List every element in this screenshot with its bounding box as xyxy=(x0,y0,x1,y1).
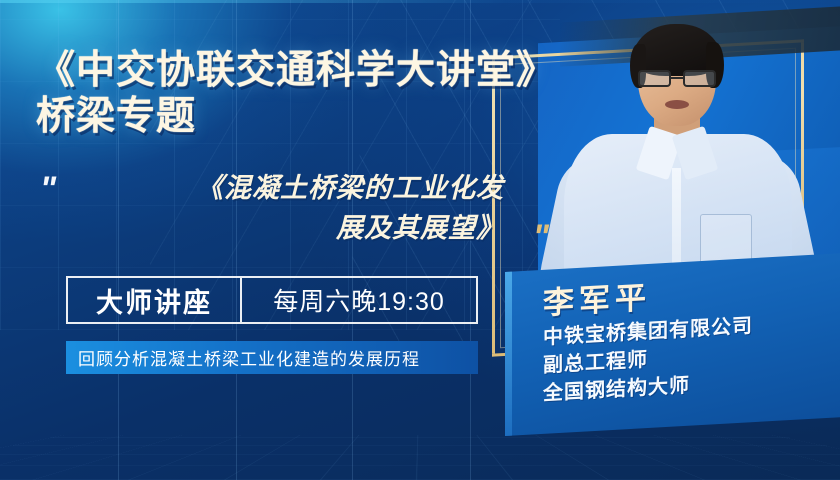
description-band: 回顾分析混凝土桥梁工业化建造的发展历程 xyxy=(66,341,478,374)
lecture-poster: 《中交协联交通科学大讲堂》 桥梁专题 " 《混凝土桥梁的工业化发 展及其展望》 … xyxy=(0,0,840,480)
title-line-1: 《中交协联交通科学大讲堂》 xyxy=(36,49,556,92)
portrait-mouth xyxy=(665,100,689,109)
title-line-2: 桥梁专题 xyxy=(36,94,576,140)
topic-quote: " 《混凝土桥梁的工业化发 展及其展望》 " xyxy=(36,168,546,268)
quote-close-mark: " xyxy=(533,220,546,254)
series-label: 大师讲座 xyxy=(68,278,240,322)
topic-quote-text: 《混凝土桥梁的工业化发 展及其展望》 xyxy=(84,168,504,248)
page-title: 《中交协联交通科学大讲堂》 桥梁专题 xyxy=(36,48,576,140)
quote-open-mark: " xyxy=(40,172,53,206)
schedule-text: 每周六晚19:30 xyxy=(242,278,476,322)
schedule-info-box: 大师讲座 每周六晚19:30 xyxy=(66,276,478,324)
glasses-icon xyxy=(638,70,716,87)
speaker-name-card-content: 李军平 中铁宝桥集团有限公司 副总工程师 全国钢结构大师 xyxy=(505,253,840,436)
quote-line-1: 《混凝土桥梁的工业化发 xyxy=(84,168,504,208)
quote-line-2: 展及其展望》 xyxy=(84,208,504,248)
